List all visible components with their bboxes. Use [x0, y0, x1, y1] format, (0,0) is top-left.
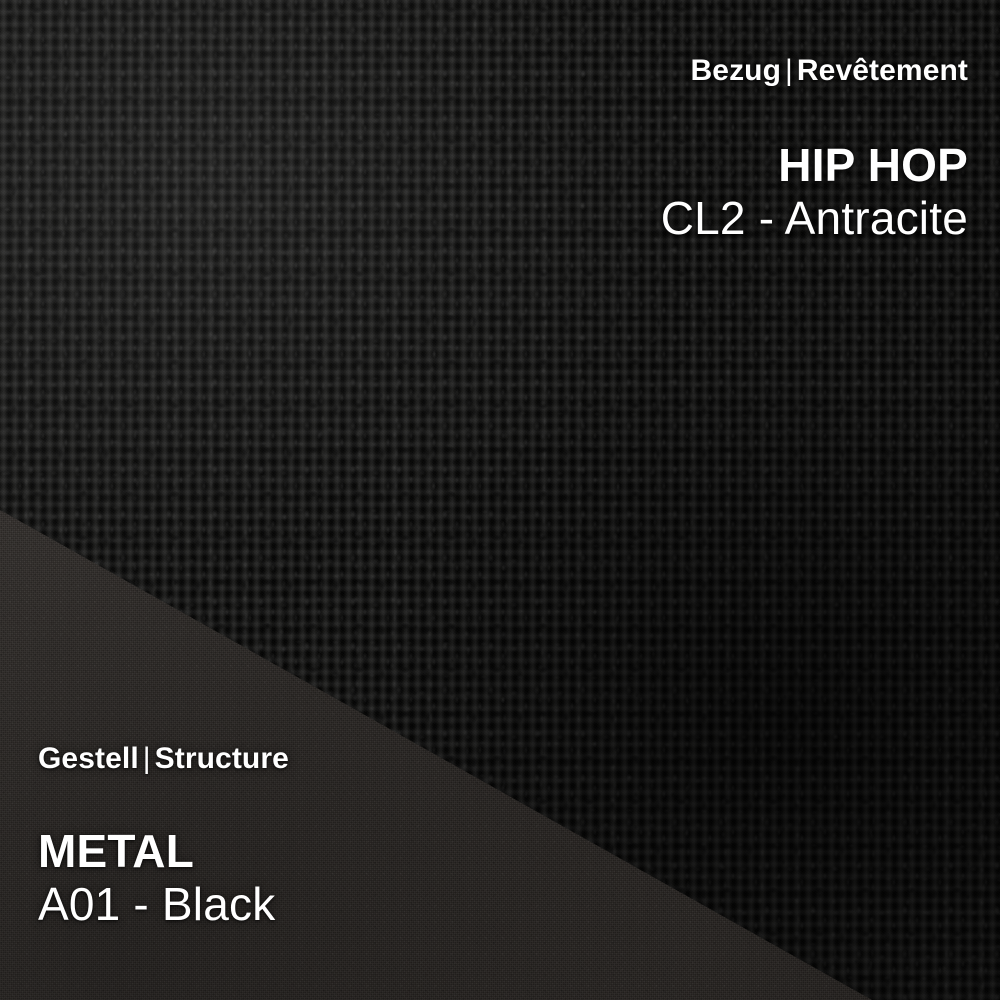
- frame-label-block: Gestell|Structure METAL A01 - Black: [38, 742, 289, 932]
- frame-category-label: Gestell|Structure: [38, 742, 289, 777]
- frame-category-label-de: Gestell: [38, 742, 139, 775]
- upholstery-category-label-fr: Revêtement: [797, 54, 968, 87]
- upholstery-category-label-de: Bezug: [691, 54, 782, 87]
- frame-material-name: METAL: [38, 825, 289, 878]
- upholstery-label-spacer: [661, 89, 968, 139]
- material-swatch-card: Bezug|Revêtement HIP HOP CL2 - Antracite…: [0, 0, 1000, 1000]
- frame-material-code: A01 - Black: [38, 878, 289, 931]
- upholstery-label-block: Bezug|Revêtement HIP HOP CL2 - Antracite: [661, 54, 968, 246]
- frame-category-label-fr: Structure: [155, 742, 289, 775]
- upholstery-material-code: CL2 - Antracite: [661, 192, 968, 245]
- frame-label-spacer: [38, 777, 289, 825]
- upholstery-label-separator: |: [781, 54, 797, 87]
- frame-label-separator: |: [139, 742, 155, 775]
- upholstery-material-name: HIP HOP: [661, 139, 968, 192]
- upholstery-category-label: Bezug|Revêtement: [661, 54, 968, 89]
